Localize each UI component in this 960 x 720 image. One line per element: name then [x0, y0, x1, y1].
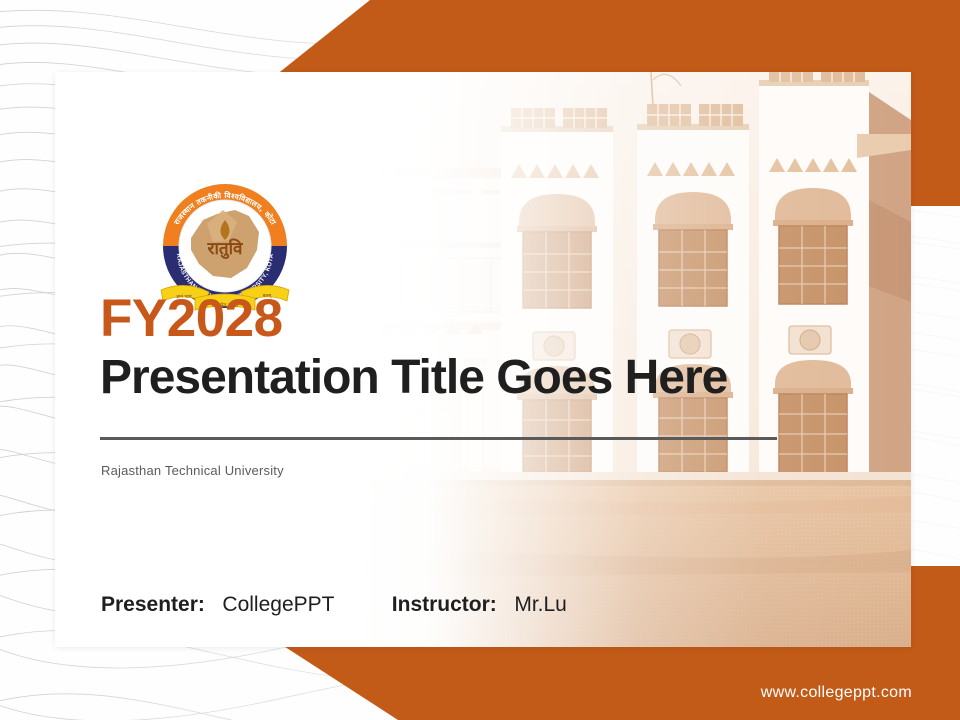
title-block: FY2028 Presentation Title Goes Here	[100, 292, 727, 403]
instructor-label: Instructor:	[392, 593, 497, 616]
credits-line: Presenter: CollegePPT Instructor: Mr.Lu	[101, 593, 567, 617]
logo-center-text: रातुवि	[207, 238, 244, 259]
instructor-name: Mr.Lu	[514, 593, 567, 616]
page-title: Presentation Title Goes Here	[100, 353, 727, 403]
footer-website-url[interactable]: www.collegeppt.com	[761, 684, 912, 702]
fiscal-year-heading: FY2028	[100, 292, 727, 345]
organization-name: Rajasthan Technical University	[101, 463, 284, 478]
presenter-name: CollegePPT	[222, 593, 334, 616]
presenter-label: Presenter:	[101, 593, 205, 616]
presentation-cover-slide: रातुवि राजस्थान तकनीकी विश्वविद्यालय, को…	[0, 0, 960, 720]
title-divider	[100, 437, 777, 440]
